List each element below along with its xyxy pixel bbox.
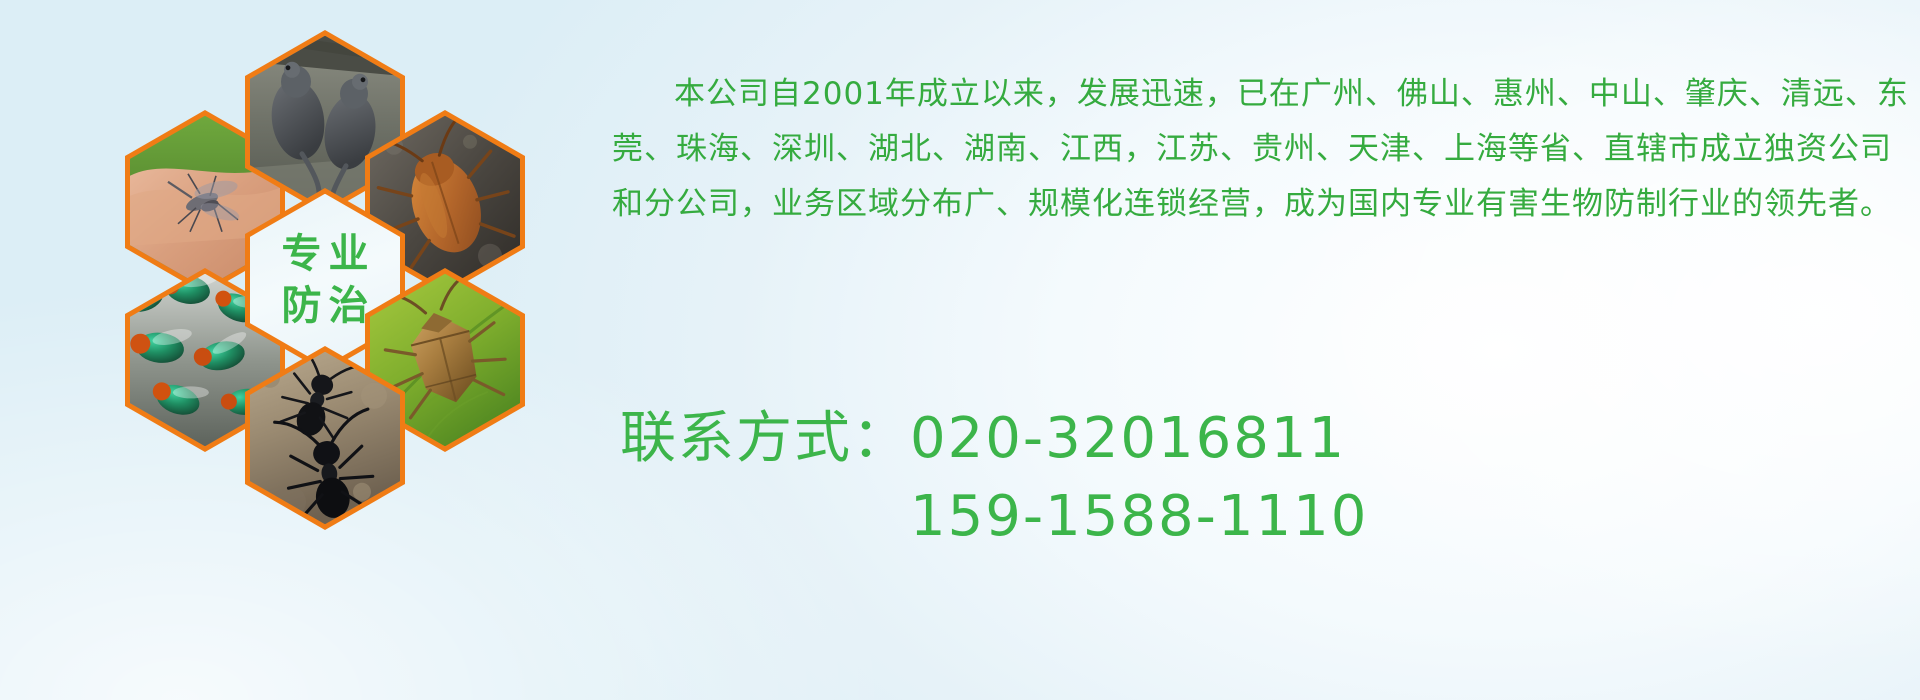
honeycomb-collage: 专业 防治 [95,10,595,560]
center-label-line1: 专业 [275,231,376,277]
center-label-line2: 防治 [275,283,376,329]
ants-photo [250,352,400,525]
copy-column: 本公司自2001年成立以来，发展迅速，已在广州、佛山、惠州、中山、肇庆、清远、东… [612,36,1912,263]
contact-block: 联系方式：020-32016811 159-1588-1110 [620,400,1900,556]
about-paragraph: 本公司自2001年成立以来，发展迅速，已在广州、佛山、惠州、中山、肇庆、清远、东… [612,67,1912,232]
contact-line-primary[interactable]: 联系方式：020-32016811 [620,400,1900,478]
promo-banner: 专业 防治 [0,0,1920,700]
hex-inner-ants [250,352,400,525]
contact-line-secondary[interactable]: 159-1588-1110 [620,478,1900,556]
